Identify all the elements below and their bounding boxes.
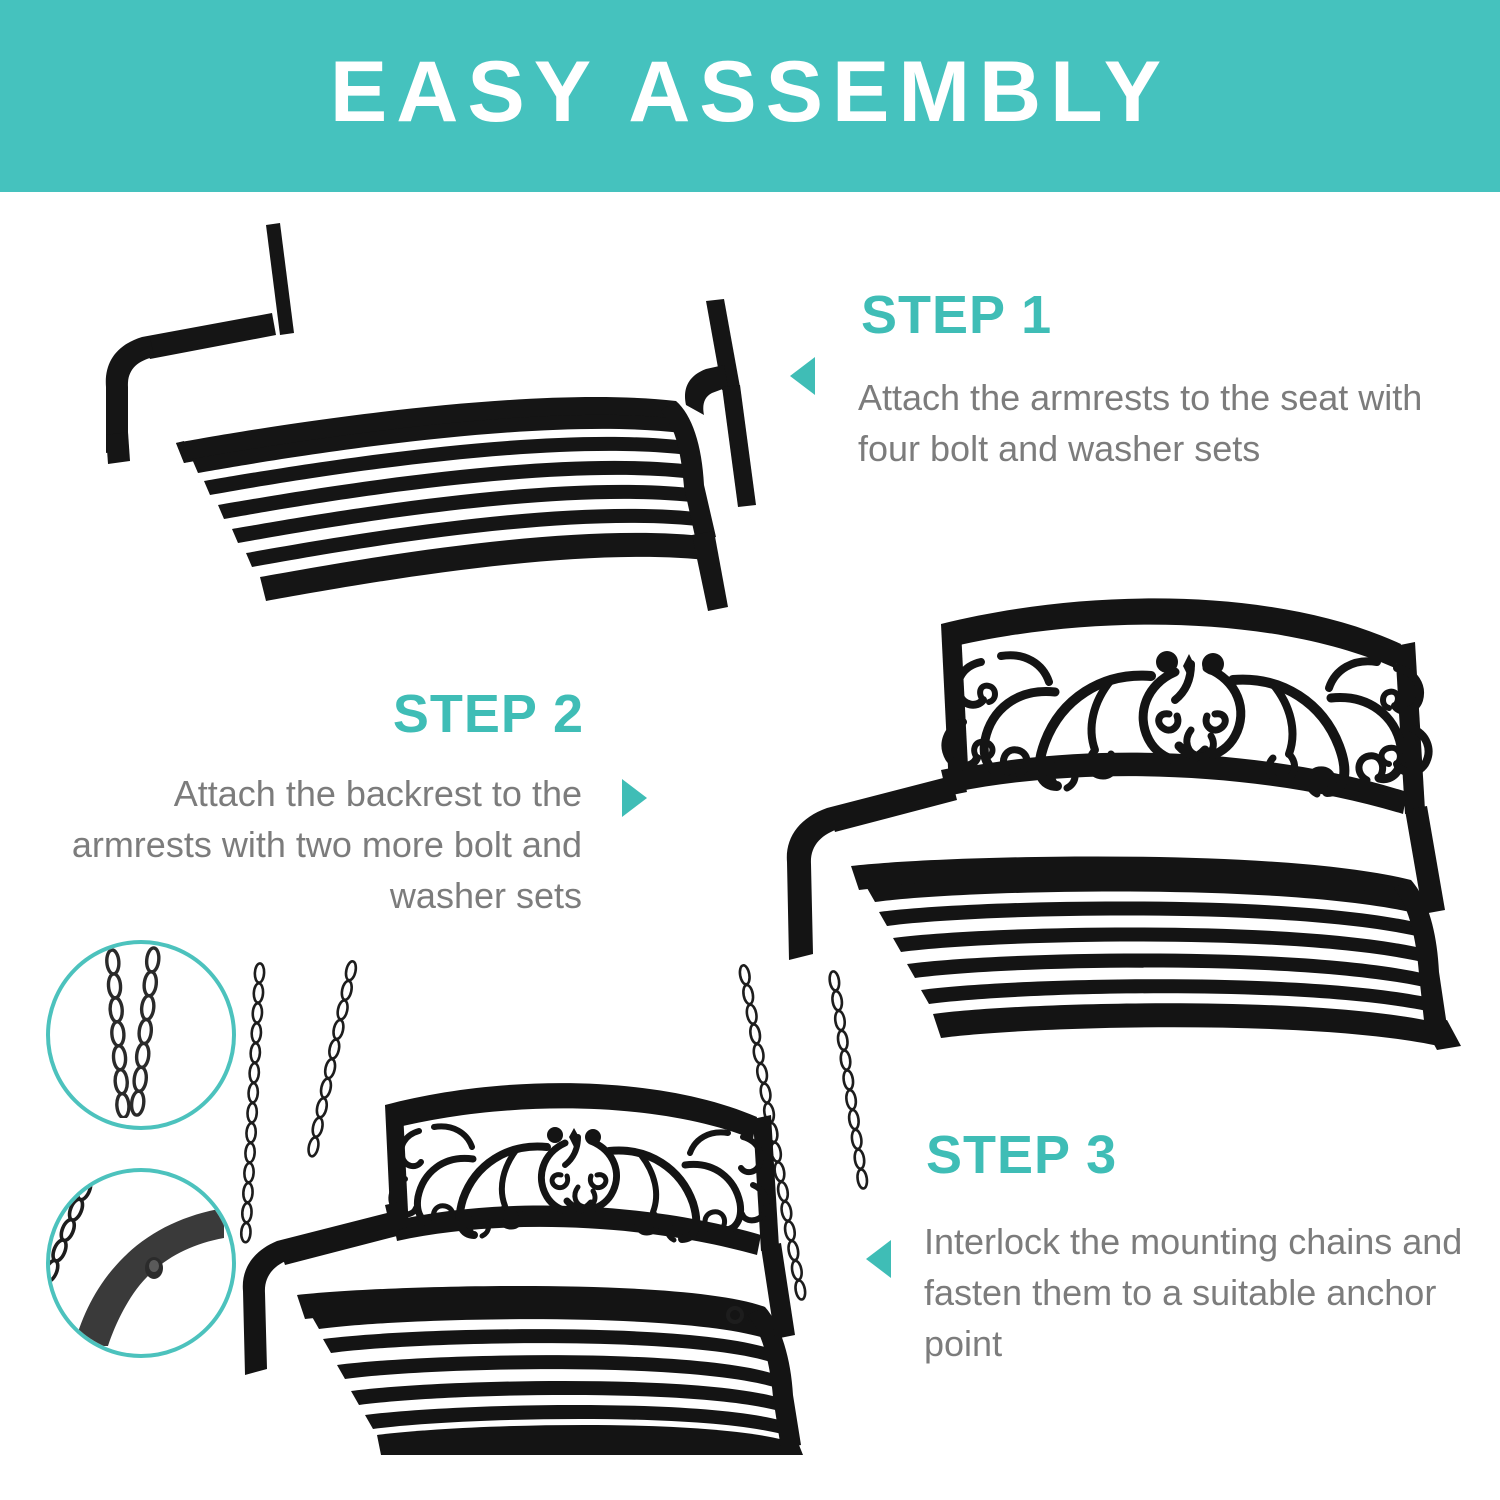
step-2-marker-icon	[622, 779, 647, 817]
callout-chain-armrest-connection	[46, 1168, 236, 1358]
step-1-description: Attach the armrests to the seat with fou…	[858, 372, 1478, 474]
step-1-marker-icon	[790, 357, 815, 395]
step-1-heading: STEP 1	[861, 288, 1052, 342]
step-3-marker-icon	[866, 1240, 891, 1278]
chain-detail-icon	[50, 944, 224, 1118]
step-2-description: Attach the backrest to the armrests with…	[55, 768, 582, 921]
bolt-eyelet-icon	[145, 1257, 163, 1279]
seat-frame-with-armrests-illustration	[80, 205, 780, 635]
chain-hook-detail-icon	[50, 1172, 224, 1346]
step-3-description: Interlock the mounting chains and fasten…	[924, 1216, 1484, 1369]
page-title: EASY ASSEMBLY	[0, 0, 1500, 192]
header-banner: EASY ASSEMBLY	[0, 0, 1500, 192]
step-3-heading: STEP 3	[926, 1128, 1117, 1182]
assembly-infographic: EASY ASSEMBLY	[0, 0, 1500, 1500]
step-1-product-image	[80, 205, 780, 635]
porch-swing-on-chains-illustration	[235, 955, 875, 1455]
callout-mounting-chains	[46, 940, 236, 1130]
step-3-product-image	[235, 955, 875, 1455]
step-2-heading: STEP 2	[393, 687, 584, 741]
